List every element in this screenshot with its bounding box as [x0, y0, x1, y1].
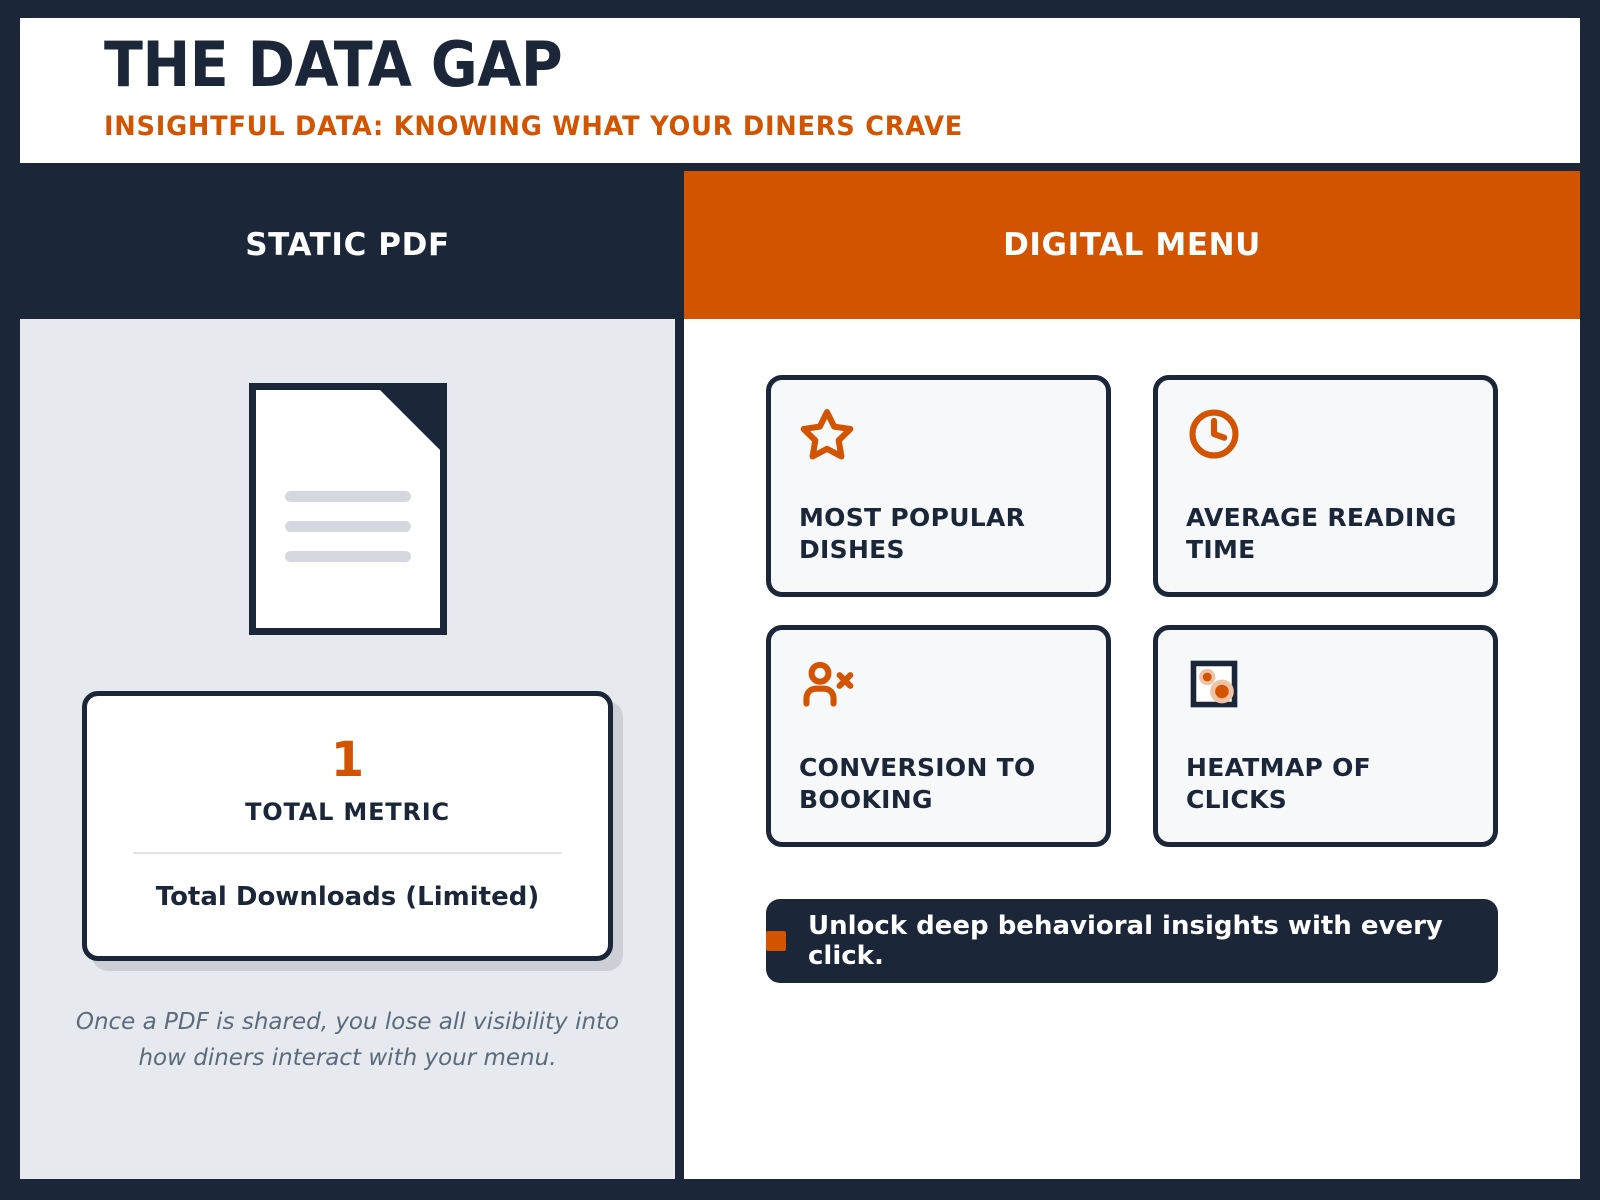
- metric-label: TOTAL METRIC: [127, 798, 568, 826]
- clock-icon: [1186, 406, 1465, 462]
- static-pdf-body: 1 TOTAL METRIC Total Downloads (Limited)…: [20, 319, 675, 1179]
- document-text-line: [285, 491, 411, 502]
- feature-card-average-reading-time[interactable]: AVERAGE READING TIME: [1153, 375, 1498, 597]
- page-title: THE DATA GAP: [104, 32, 1462, 99]
- total-metric-card: 1 TOTAL METRIC Total Downloads (Limited): [82, 691, 613, 961]
- digital-menu-column: DIGITAL MENU MOST POPULAR DISHES: [684, 171, 1580, 1179]
- feature-card-most-popular-dishes[interactable]: MOST POPULAR DISHES: [766, 375, 1111, 597]
- document-fold-corner: [380, 390, 440, 450]
- feature-grid: MOST POPULAR DISHES AVERAGE READING TIME: [684, 319, 1580, 847]
- metric-description: Total Downloads (Limited): [127, 882, 568, 912]
- metric-divider: [133, 852, 562, 854]
- feature-label: MOST POPULAR DISHES: [799, 502, 1078, 566]
- document-text-line: [285, 521, 411, 532]
- page-subtitle: INSIGHTFUL DATA: KNOWING WHAT YOUR DINER…: [104, 111, 1506, 142]
- static-pdf-header: STATIC PDF: [20, 171, 675, 319]
- header-band: THE DATA GAP INSIGHTFUL DATA: KNOWING WH…: [20, 18, 1580, 163]
- star-icon: [799, 406, 1078, 462]
- insights-banner: Unlock deep behavioral insights with eve…: [766, 899, 1498, 983]
- banner-wrap: Unlock deep behavioral insights with eve…: [684, 847, 1580, 983]
- heatmap-icon: [1186, 656, 1465, 712]
- feature-card-heatmap-of-clicks[interactable]: HEATMAP OF CLICKS: [1153, 625, 1498, 847]
- feature-label: CONVERSION TO BOOKING: [799, 752, 1078, 816]
- feature-label: AVERAGE READING TIME: [1186, 502, 1465, 566]
- document-icon: [249, 383, 447, 635]
- square-bullet-icon: [766, 931, 786, 951]
- digital-menu-header: DIGITAL MENU: [684, 171, 1580, 319]
- metric-value: 1: [127, 736, 568, 784]
- infographic-canvas: THE DATA GAP INSIGHTFUL DATA: KNOWING WH…: [0, 0, 1600, 1200]
- metric-card-wrap: 1 TOTAL METRIC Total Downloads (Limited): [20, 635, 675, 961]
- feature-card-conversion-to-booking[interactable]: CONVERSION TO BOOKING: [766, 625, 1111, 847]
- banner-text: Unlock deep behavioral insights with eve…: [808, 911, 1498, 971]
- static-pdf-column: STATIC PDF 1 TOTAL METRIC Total Download…: [20, 171, 675, 1179]
- user-x-icon: [799, 656, 1078, 712]
- feature-label: HEATMAP OF CLICKS: [1186, 752, 1465, 816]
- digital-menu-body: MOST POPULAR DISHES AVERAGE READING TIME: [684, 319, 1580, 1179]
- document-icon-wrap: [20, 319, 675, 635]
- static-pdf-caption: Once a PDF is shared, you lose all visib…: [20, 961, 675, 1076]
- document-text-line: [285, 551, 411, 562]
